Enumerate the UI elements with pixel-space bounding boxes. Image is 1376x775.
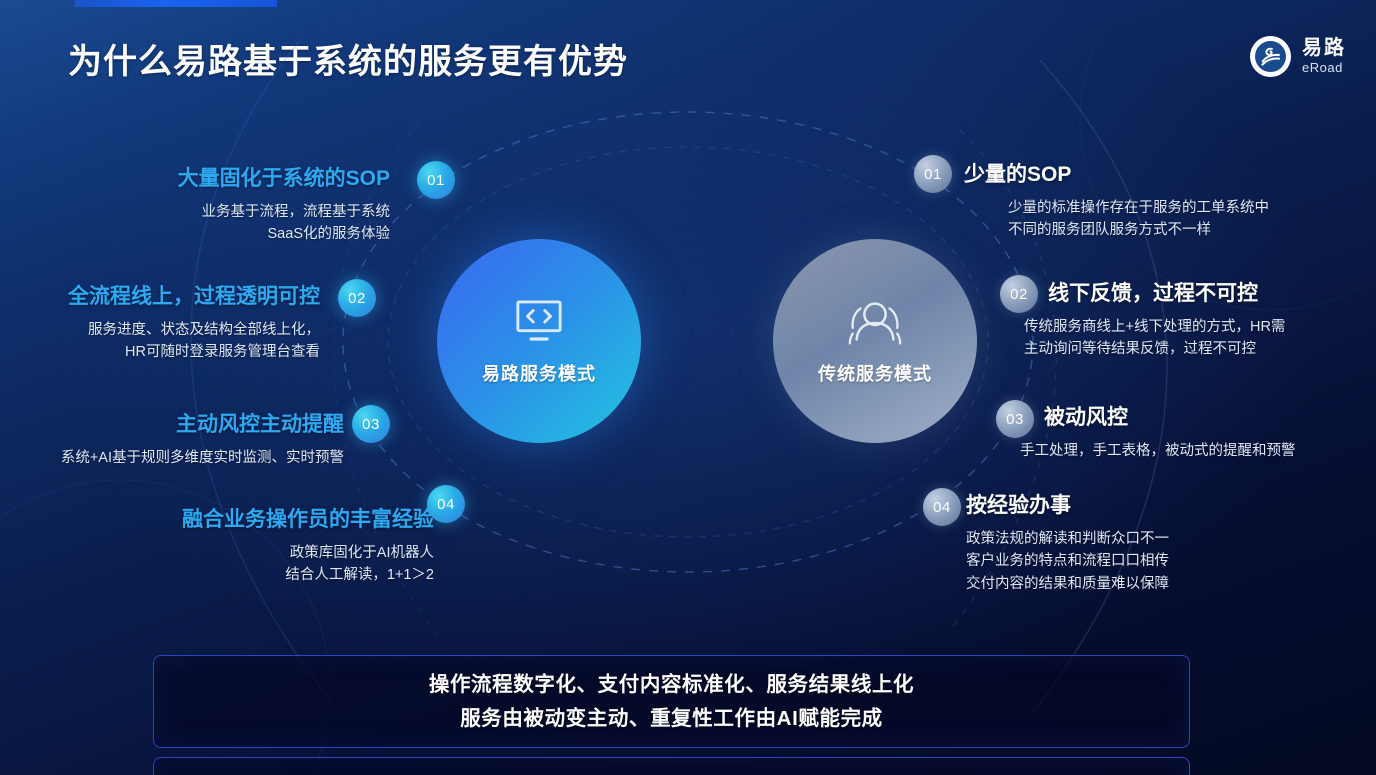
left-item-02-desc-line-1: 服务进度、状态及结构全部线上化， [20, 319, 320, 341]
right-item-01: 少量的SOP 少量的标准操作存在于服务的工单系统中 不同的服务团队服务方式不一样 [964, 158, 1269, 242]
left-item-01-title: 大量固化于系统的SOP [20, 162, 390, 192]
left-item-02-title: 全流程线上，过程透明可控 [20, 280, 320, 310]
eroad-circle-logo-icon [1250, 36, 1291, 77]
right-item-03: 被动风控 手工处理，手工表格，被动式的提醒和预警 [1044, 401, 1296, 462]
top-accent-bar [75, 0, 277, 7]
eroad-service-mode-circle[interactable]: 易路服务模式 [437, 239, 641, 443]
right-item-02-title: 线下反馈，过程不可控 [1048, 277, 1285, 307]
right-item-02-desc-line-2: 主动询问等待结果反馈，过程不可控 [1024, 338, 1285, 360]
right-item-03-title: 被动风控 [1044, 401, 1296, 431]
left-item-03-title: 主动风控主动提醒 [14, 408, 344, 438]
brand-name-cn: 易路 [1302, 38, 1346, 59]
brand-logo-text: 易路 eRoad [1302, 38, 1346, 75]
summary-banner: 操作流程数字化、支付内容标准化、服务结果线上化 服务由被动变主动、重复性工作由A… [153, 655, 1190, 748]
brand-name-en: eRoad [1302, 61, 1346, 75]
left-badge-02[interactable]: 02 [338, 279, 376, 317]
right-badge-02[interactable]: 02 [1000, 275, 1038, 313]
left-badge-01[interactable]: 01 [417, 161, 455, 199]
page-title: 为什么易路基于系统的服务更有优势 [68, 34, 628, 83]
slide-canvas: 为什么易路基于系统的服务更有优势 易路 eRoad [0, 0, 1376, 775]
right-item-03-desc-line-1: 手工处理，手工表格，被动式的提醒和预警 [1020, 440, 1296, 462]
right-item-04-title: 按经验办事 [966, 489, 1169, 519]
right-item-04: 按经验办事 政策法规的解读和判断众口不一 客户业务的特点和流程口口相传 交付内容… [966, 489, 1169, 595]
left-item-04-title: 融合业务操作员的丰富经验 [20, 503, 434, 533]
right-badge-01[interactable]: 01 [914, 155, 952, 193]
users-group-icon [845, 296, 905, 350]
left-item-02: 全流程线上，过程透明可控 服务进度、状态及结构全部线上化， HR可随时登录服务管… [20, 280, 320, 364]
left-item-01: 大量固化于系统的SOP 业务基于流程，流程基于系统 SaaS化的服务体验 [20, 162, 390, 246]
brand-logo: 易路 eRoad [1250, 36, 1346, 77]
right-item-01-desc-line-1: 少量的标准操作存在于服务的工单系统中 [1008, 197, 1269, 219]
summary-line-2: 服务由被动变主动、重复性工作由AI赋能完成 [429, 702, 914, 735]
left-badge-04[interactable]: 04 [427, 485, 465, 523]
left-item-03-desc-line-1: 系统+AI基于规则多维度实时监测、实时预警 [14, 447, 344, 469]
traditional-service-mode-circle[interactable]: 传统服务模式 [773, 239, 977, 443]
right-item-02: 线下反馈，过程不可控 传统服务商线上+线下处理的方式，HR需 主动询问等待结果反… [1048, 277, 1285, 361]
left-badge-03[interactable]: 03 [352, 405, 390, 443]
left-item-02-desc-line-2: HR可随时登录服务管理台查看 [20, 341, 320, 363]
summary-banner-text: 操作流程数字化、支付内容标准化、服务结果线上化 服务由被动变主动、重复性工作由A… [429, 668, 914, 734]
left-item-04-desc-line-2: 结合人工解读，1+1＞2 [20, 564, 434, 586]
secondary-banner [153, 757, 1190, 775]
right-badge-03[interactable]: 03 [996, 400, 1034, 438]
left-item-04: 融合业务操作员的丰富经验 政策库固化于AI机器人 结合人工解读，1+1＞2 [20, 503, 434, 587]
left-item-03: 主动风控主动提醒 系统+AI基于规则多维度实时监测、实时预警 [14, 408, 344, 469]
traditional-circle-label: 传统服务模式 [818, 360, 932, 386]
left-item-01-desc-line-1: 业务基于流程，流程基于系统 [20, 201, 390, 223]
right-item-04-desc-line-3: 交付内容的结果和质量难以保障 [966, 573, 1169, 595]
right-item-02-desc-line-1: 传统服务商线上+线下处理的方式，HR需 [1024, 316, 1285, 338]
summary-line-1: 操作流程数字化、支付内容标准化、服务结果线上化 [429, 668, 914, 701]
right-item-04-desc-line-2: 客户业务的特点和流程口口相传 [966, 550, 1169, 572]
right-item-04-desc-line-1: 政策法规的解读和判断众口不一 [966, 528, 1169, 550]
left-item-04-desc-line-1: 政策库固化于AI机器人 [20, 542, 434, 564]
right-item-01-title: 少量的SOP [964, 158, 1269, 188]
eroad-circle-label: 易路服务模式 [482, 360, 596, 386]
right-badge-04[interactable]: 04 [923, 488, 961, 526]
code-window-icon [514, 296, 564, 350]
right-item-01-desc-line-2: 不同的服务团队服务方式不一样 [1008, 219, 1269, 241]
left-item-01-desc-line-2: SaaS化的服务体验 [20, 223, 390, 245]
